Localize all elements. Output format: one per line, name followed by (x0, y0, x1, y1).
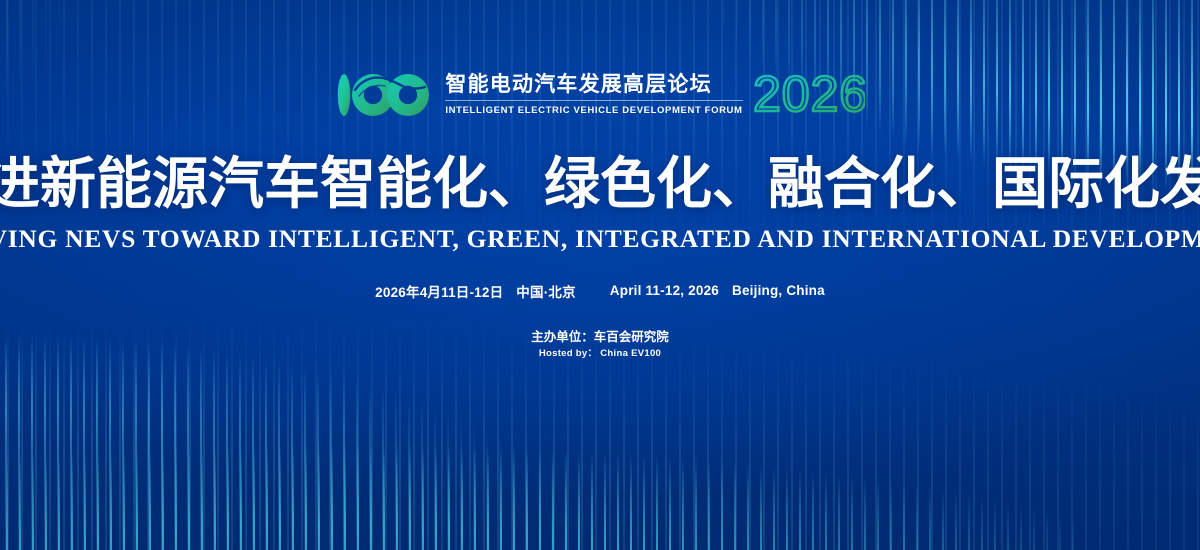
headline-en: DRIVING NEVS TOWARD INTELLIGENT, GREEN, … (0, 226, 1200, 252)
ev100-logo-icon (335, 67, 435, 123)
logo-year-text: 2026 (753, 67, 865, 122)
host-block: 主办单位：车百会研究院 Hosted by： China EV100 (531, 329, 669, 361)
host-name-cn: 车百会研究院 (594, 330, 669, 344)
banner-content: 智能电动汽车发展高层论坛 INTELLIGENT ELECTRIC VEHICL… (0, 0, 1200, 550)
host-line-cn: 主办单位：车百会研究院 (531, 329, 669, 346)
host-label-en: Hosted by： (539, 348, 597, 359)
logo-year: 2026 (753, 67, 865, 123)
place-cn: 中国·北京 (516, 281, 576, 301)
host-line-en: Hosted by： China EV100 (531, 348, 669, 361)
date-en: April 11-12, 2026 (610, 283, 719, 298)
conference-banner: 智能电动汽车发展高层论坛 INTELLIGENT ELECTRIC VEHICL… (0, 0, 1200, 550)
host-name-en: China EV100 (600, 348, 661, 359)
place-en: Beijing, China (732, 283, 825, 298)
date-cn: 2026年4月11日-12日 (375, 281, 503, 301)
event-dateline: 2026年4月11日-12日 中国·北京 April 11-12, 2026 B… (375, 281, 825, 301)
logo-title-en: INTELLIGENT ELECTRIC VEHICLE DEVELOPMENT… (445, 106, 742, 116)
host-label-cn: 主办单位： (531, 330, 594, 344)
logo-divider (445, 100, 742, 101)
logo-lockup: 智能电动汽车发展高层论坛 INTELLIGENT ELECTRIC VEHICL… (335, 64, 864, 126)
logo-text-block: 智能电动汽车发展高层论坛 INTELLIGENT ELECTRIC VEHICL… (445, 67, 742, 123)
headline-cn: 推进新能源汽车智能化、绿色化、融合化、国际化发展 (0, 154, 1200, 214)
logo-title-cn: 智能电动汽车发展高层论坛 (445, 74, 742, 95)
